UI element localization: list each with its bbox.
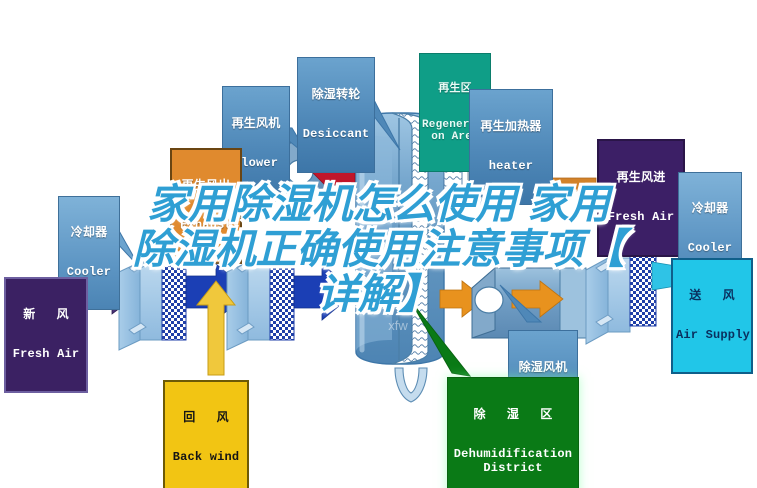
label-air-supply[interactable]: 送 风 Air Supply: [671, 258, 753, 374]
label-regeneration-exhaust[interactable]: 再生风出 Exhaust: [170, 148, 242, 264]
label-dehumidification-blower-cn: 除湿风机: [511, 361, 575, 374]
label-dehumidification-district-en: Dehumidification District: [451, 448, 575, 475]
label-air-supply-en: Air Supply: [676, 329, 748, 342]
process-air-arrow-2: [294, 264, 356, 320]
svg-text:xfw: xfw: [388, 318, 408, 333]
label-back-wind-en: Back wind: [168, 451, 244, 464]
label-regeneration-heater[interactable]: 再生加热器 heater: [469, 89, 553, 205]
drain-pan: [395, 368, 427, 402]
diagram-canvas: xfw 除湿转轮 Desiccant 再生风机 Blower 再生区 Regen…: [0, 0, 757, 488]
label-back-wind-cn: 回 风: [168, 411, 244, 424]
label-regeneration-heater-cn: 再生加热器: [472, 120, 550, 133]
label-regeneration-fresh-air-in-cn: 再生风进: [601, 171, 681, 184]
label-desiccant-rotor[interactable]: 除湿转轮 Desiccant: [297, 57, 375, 173]
label-back-wind[interactable]: 回 风 Back wind: [163, 380, 249, 488]
label-desiccant-rotor-cn: 除湿转轮: [300, 88, 372, 101]
cooling-coil-mid: [227, 261, 294, 350]
label-fresh-air-in[interactable]: 新 风 Fresh Air: [4, 277, 88, 393]
label-desiccant-rotor-en: Desiccant: [300, 128, 372, 141]
label-dehumidification-district-cn: 除 湿 区: [451, 408, 575, 421]
label-fresh-air-in-en: Fresh Air: [9, 348, 83, 361]
label-regeneration-fresh-air-in-en: Fresh Air: [601, 211, 681, 224]
label-regeneration-blower-cn: 再生风机: [225, 117, 287, 130]
cooling-coil-left: [119, 261, 186, 350]
label-regeneration-fresh-air-in[interactable]: 再生风进 Fresh Air: [597, 139, 685, 257]
label-dehumidification-district[interactable]: 除 湿 区 Dehumidification District: [447, 377, 579, 488]
label-air-supply-cn: 送 风: [676, 289, 748, 302]
label-fresh-air-in-cn: 新 风: [9, 308, 83, 321]
label-regeneration-heater-en: heater: [472, 160, 550, 173]
label-cooler-left-cn: 冷却器: [61, 226, 117, 239]
label-cooler-right-cn: 冷却器: [681, 202, 739, 215]
label-regeneration-exhaust-cn: 再生风出: [174, 179, 238, 192]
cooling-coil-right: [586, 252, 656, 344]
label-regeneration-exhaust-en: Exhaust: [174, 219, 238, 232]
label-cooler-right-en: Cooler: [681, 242, 739, 255]
